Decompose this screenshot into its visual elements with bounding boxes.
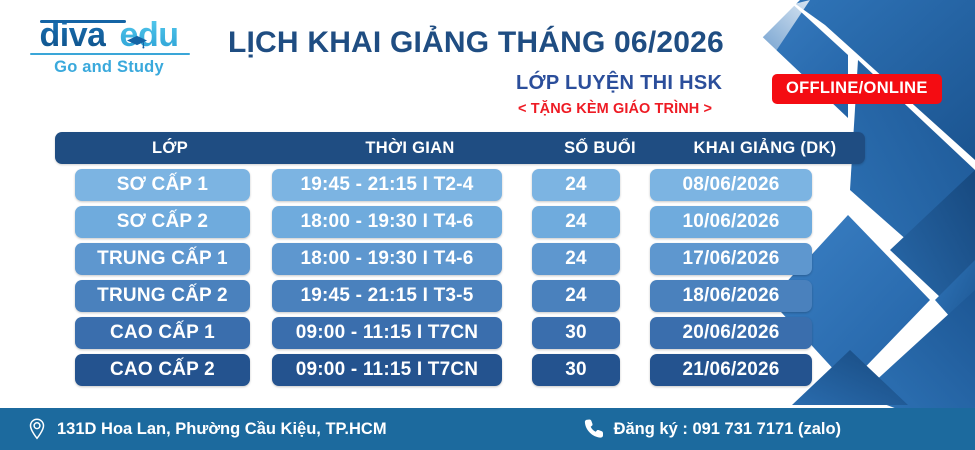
cell-class: CAO CẤP 1: [75, 317, 250, 349]
cell-class: TRUNG CẤP 1: [75, 243, 250, 275]
brand-tagline: Go and Study: [14, 58, 204, 77]
cell-startdate: 17/06/2026: [650, 243, 812, 275]
schedule-table: LỚP THỜI GIAN SỐ BUỔI KHAI GIẢNG (DK) SƠ…: [55, 132, 865, 386]
brand-wordmark: divaedu: [14, 18, 204, 54]
cell-sessions: 24: [532, 206, 620, 238]
contact-footer: 131D Hoa Lan, Phường Cầu Kiệu, TP.HCM Đă…: [0, 408, 975, 450]
cell-sessions: 24: [532, 280, 620, 312]
cell-time: 19:45 - 21:15 I T2-4: [272, 169, 502, 201]
footer-address-text: 131D Hoa Lan, Phường Cầu Kiệu, TP.HCM: [57, 420, 387, 439]
cell-class: SƠ CẤP 2: [75, 206, 250, 238]
cell-startdate: 08/06/2026: [650, 169, 812, 201]
table-row: SƠ CẤP 119:45 - 21:15 I T2-42408/06/2026: [55, 169, 865, 201]
phone-icon: [583, 417, 605, 441]
cell-time: 19:45 - 21:15 I T3-5: [272, 280, 502, 312]
table-header-row: LỚP THỜI GIAN SỐ BUỔI KHAI GIẢNG (DK): [55, 132, 865, 164]
column-header-sessions: SỐ BUỔI: [535, 139, 665, 158]
cell-class: TRUNG CẤP 2: [75, 280, 250, 312]
page-subtitle: LỚP LUYỆN THI HSK: [516, 72, 722, 95]
cell-sessions: 30: [532, 317, 620, 349]
promo-text: < TẶNG KÈM GIÁO TRÌNH >: [518, 101, 712, 117]
footer-phone-text: Đăng ký : 091 731 7171 (zalo): [614, 420, 841, 439]
table-row: CAO CẤP 109:00 - 11:15 I T7CN3020/06/202…: [55, 317, 865, 349]
poster-canvas: divaedu Go and Study LỊCH KHAI GIẢNG THÁ…: [0, 0, 975, 450]
mode-badge: OFFLINE/ONLINE: [772, 74, 942, 104]
table-row: TRUNG CẤP 118:00 - 19:30 I T4-62417/06/2…: [55, 243, 865, 275]
logo-bottom-bar: [30, 53, 190, 55]
cell-sessions: 24: [532, 243, 620, 275]
table-row: CAO CẤP 209:00 - 11:15 I T7CN3021/06/202…: [55, 354, 865, 386]
brand-logo: divaedu Go and Study: [14, 18, 204, 77]
cell-class: SƠ CẤP 1: [75, 169, 250, 201]
table-body: SƠ CẤP 119:45 - 21:15 I T2-42408/06/2026…: [55, 169, 865, 386]
column-header-class: LỚP: [55, 139, 285, 158]
page-title: LỊCH KHAI GIẢNG THÁNG 06/2026: [228, 26, 724, 60]
cell-startdate: 20/06/2026: [650, 317, 812, 349]
location-pin-icon: [26, 417, 48, 441]
footer-address: 131D Hoa Lan, Phường Cầu Kiệu, TP.HCM: [26, 417, 387, 441]
logo-top-bar: [40, 20, 126, 23]
cell-time: 09:00 - 11:15 I T7CN: [272, 317, 502, 349]
column-header-time: THỜI GIAN: [285, 139, 535, 158]
cell-startdate: 10/06/2026: [650, 206, 812, 238]
footer-phone[interactable]: Đăng ký : 091 731 7171 (zalo): [583, 417, 841, 441]
table-row: SƠ CẤP 218:00 - 19:30 I T4-62410/06/2026: [55, 206, 865, 238]
cell-startdate: 18/06/2026: [650, 280, 812, 312]
cell-time: 18:00 - 19:30 I T4-6: [272, 206, 502, 238]
cell-time: 18:00 - 19:30 I T4-6: [272, 243, 502, 275]
cell-class: CAO CẤP 2: [75, 354, 250, 386]
cell-startdate: 21/06/2026: [650, 354, 812, 386]
cell-sessions: 24: [532, 169, 620, 201]
cell-time: 09:00 - 11:15 I T7CN: [272, 354, 502, 386]
column-header-startdate: KHAI GIẢNG (DK): [665, 139, 865, 158]
table-row: TRUNG CẤP 219:45 - 21:15 I T3-52418/06/2…: [55, 280, 865, 312]
cell-sessions: 30: [532, 354, 620, 386]
graduation-cap-icon: [126, 22, 148, 36]
